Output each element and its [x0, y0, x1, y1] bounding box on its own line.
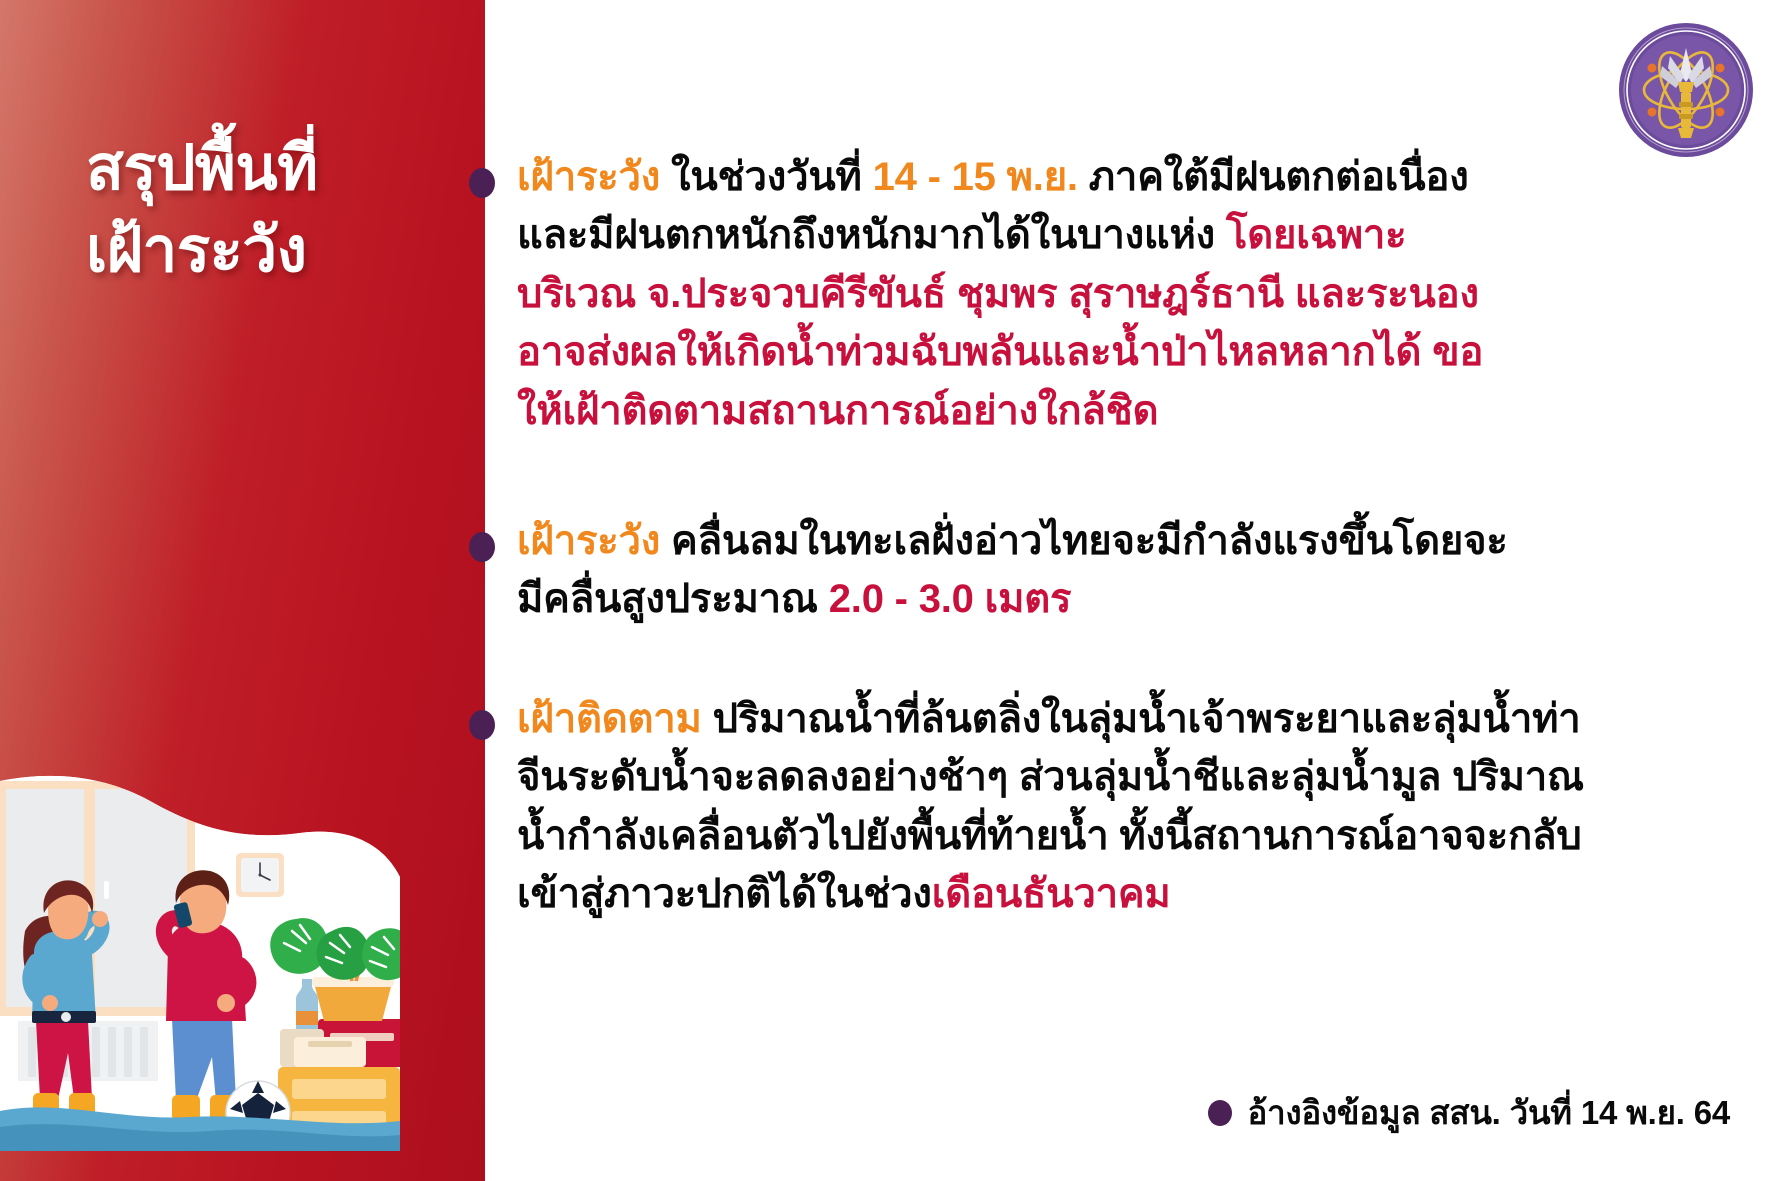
- source-credit: อ้างอิงข้อมูล สสน. วันที่ 14 พ.ย. 64: [1208, 1086, 1730, 1139]
- bullet-content-area: เฝ้าระวัง ในช่วงวันที่ 14 - 15 พ.ย. ภาคใ…: [485, 0, 1772, 1181]
- flood-illustration: [0, 681, 440, 1151]
- bullet-1-seg-1: ในช่วงวันที่: [671, 155, 873, 199]
- bullet-dot-icon: [469, 710, 495, 740]
- poster-canvas: สรุปพื้นที่ เฝ้าระวัง: [0, 0, 1772, 1181]
- bullet-2-seg-0: เฝ้าระวัง: [517, 519, 671, 563]
- credit-text: อ้างอิงข้อมูล สสน. วันที่ 14 พ.ย. 64: [1248, 1086, 1730, 1139]
- bullet-dot-icon: [469, 168, 495, 198]
- page-title: สรุปพื้นที่ เฝ้าระวัง: [86, 128, 466, 292]
- bullet-1-seg-2: 14 - 15 พ.ย.: [873, 155, 1089, 199]
- bullet-3-seg-0: เฝ้าติดตาม: [517, 697, 713, 741]
- bullet-watch-waves: เฝ้าระวัง คลื่นลมในทะเลฝั่งอ่าวไทยจะมีกำ…: [485, 512, 1772, 629]
- bullet-watch-rain: เฝ้าระวัง ในช่วงวันที่ 14 - 15 พ.ย. ภาคใ…: [485, 148, 1772, 440]
- bullet-watch-rain-text: เฝ้าระวัง ในช่วงวันที่ 14 - 15 พ.ย. ภาคใ…: [517, 148, 1517, 440]
- bullet-2-seg-2: 2.0 - 3.0 เมตร: [829, 577, 1072, 621]
- bullet-1-seg-0: เฝ้าระวัง: [517, 155, 671, 199]
- left-red-panel: สรุปพื้นที่ เฝ้าระวัง: [0, 0, 485, 1181]
- bullet-3-seg-2: เดือนธันวาคม: [932, 872, 1171, 916]
- bullet-watch-waves-text: เฝ้าระวัง คลื่นลมในทะเลฝั่งอ่าวไทยจะมีกำ…: [517, 512, 1517, 629]
- bullet-monitor-rivers: เฝ้าติดตาม ปริมาณน้ำที่ล้นตลิ่งในลุ่มน้ำ…: [485, 690, 1772, 924]
- bullet-dot-icon: [469, 532, 495, 562]
- credit-dot-icon: [1208, 1100, 1232, 1126]
- bullet-monitor-rivers-text: เฝ้าติดตาม ปริมาณน้ำที่ล้นตลิ่งในลุ่มน้ำ…: [517, 690, 1592, 924]
